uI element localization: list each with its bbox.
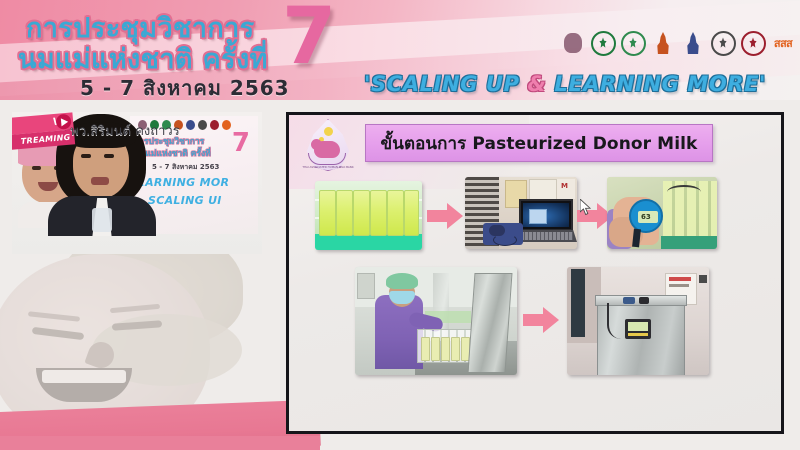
poster-slogan-line2: SCALING UI: [148, 194, 222, 207]
university-seal-logo: [740, 28, 766, 58]
laptop-record-keeping-image: M: [465, 177, 577, 249]
temperature-timer-check-image: 63: [607, 177, 717, 249]
sponsor-logo-strip: สสส: [560, 26, 796, 60]
flow-arrow-1: [427, 203, 463, 229]
thai-breastfeeding-foundation-logo: [560, 28, 586, 58]
mouse-pointer-icon: [580, 199, 592, 217]
nursing-council-logo: [710, 28, 736, 58]
donor-milk-bottles-storage-image: [315, 181, 422, 250]
thaihealth-logo-text: สสส: [774, 38, 792, 49]
flow-arrow-3: [523, 307, 559, 333]
conference-edition-number: 7: [282, 0, 336, 76]
milk-freezer-machine-image: [567, 267, 709, 375]
slogan-ampersand: &: [528, 72, 547, 96]
royal-college-logo: [650, 28, 676, 58]
bottom-pink-bar-2: [0, 436, 320, 450]
pasteurization-flow-diagram: M 63: [289, 115, 781, 431]
slogan-part2: LEARNING MORE': [546, 72, 766, 96]
slide-screenshot: การประชุมวิชาการ นมแม่แห่งชาติ ครั้งที่ …: [0, 0, 800, 450]
conference-slogan: 'SCALING UP & LEARNING MORE': [364, 72, 766, 96]
department-of-health-logo: [620, 28, 646, 58]
speaker-name-caption: พว.สิริมนต์ คงถาวร: [0, 120, 250, 141]
slogan-part1: 'SCALING UP: [364, 72, 528, 96]
conference-date: 5 - 7 สิงหาคม 2563: [80, 72, 290, 104]
ministry-of-public-health-logo: [590, 28, 616, 58]
poster-date: 5 - 7 สิงหาคม 2563: [152, 162, 219, 173]
thai-health-promotion-foundation-logo: สสส: [770, 28, 796, 58]
royal-thai-government-logo: [680, 28, 706, 58]
presentation-slide-panel: THAI ASSOCIATED HUMAN MILK BANK ขั้นตอนก…: [286, 112, 784, 434]
nurse-loading-pasteurizer-image: [355, 267, 517, 375]
